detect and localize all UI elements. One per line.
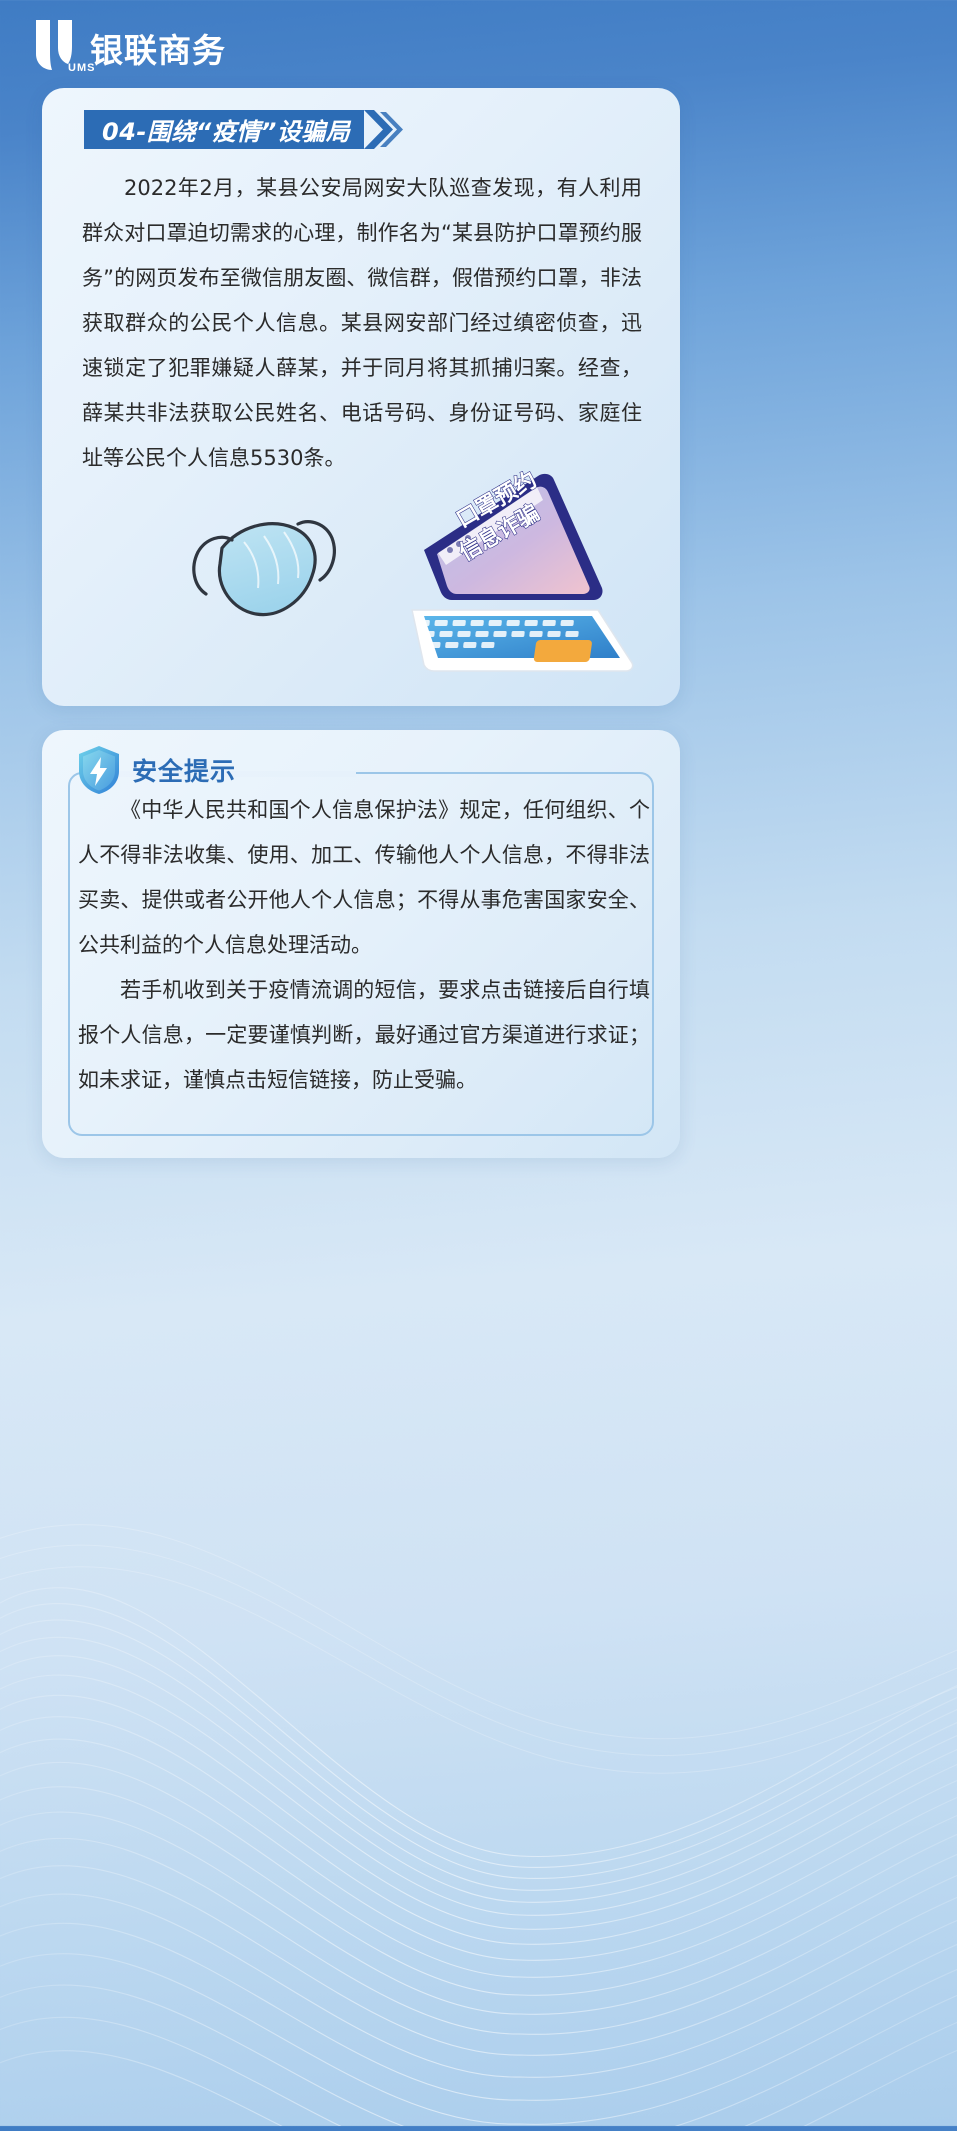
laptop-icon: 口罩预约 信息诈骗 — [412, 467, 633, 671]
brand-header: UMS 银联商务 — [28, 14, 226, 76]
brand-sub-label: UMS — [68, 62, 95, 74]
story-card: 04-围绕“疫情”设骗局 2022年2月，某县公安局网安大队巡查发现，有人利用群… — [42, 88, 680, 706]
safety-tips-card: 安全提示 《中华人民共和国个人信息保护法》规定，任何组织、个人不得非法收集、使用… — [42, 730, 680, 1158]
safety-tips-body: 《中华人民共和国个人信息保护法》规定，任何组织、个人不得非法收集、使用、加工、传… — [78, 788, 650, 1103]
background-wave-decoration — [0, 1426, 957, 2126]
brand-name-label: 银联商务 — [90, 34, 226, 67]
safety-tip-paragraph-2: 若手机收到关于疫情流调的短信，要求点击链接后自行填报个人信息，一定要谨慎判断，最… — [78, 968, 650, 1103]
safety-tips-header: 安全提示 — [76, 744, 236, 796]
safety-tip-paragraph-1: 《中华人民共和国个人信息保护法》规定，任何组织、个人不得非法收集、使用、加工、传… — [78, 788, 650, 968]
shield-lightning-icon — [76, 744, 122, 796]
section-title-banner: 04-围绕“疫情”设骗局 — [84, 110, 404, 149]
section-title-label: 04-围绕“疫情”设骗局 — [102, 112, 350, 147]
section-title-banner-body: 04-围绕“疫情”设骗局 — [84, 110, 364, 149]
safety-tips-title: 安全提示 — [132, 752, 236, 788]
ums-u-logo-icon: UMS — [28, 14, 80, 76]
chevron-right-icon — [364, 110, 404, 149]
story-paragraph: 2022年2月，某县公安局网安大队巡查发现，有人利用群众对口罩迫切需求的心理，制… — [82, 166, 642, 481]
surgical-mask-icon — [194, 522, 335, 615]
story-illustration: 口罩预约 信息诈骗 — [162, 458, 662, 693]
